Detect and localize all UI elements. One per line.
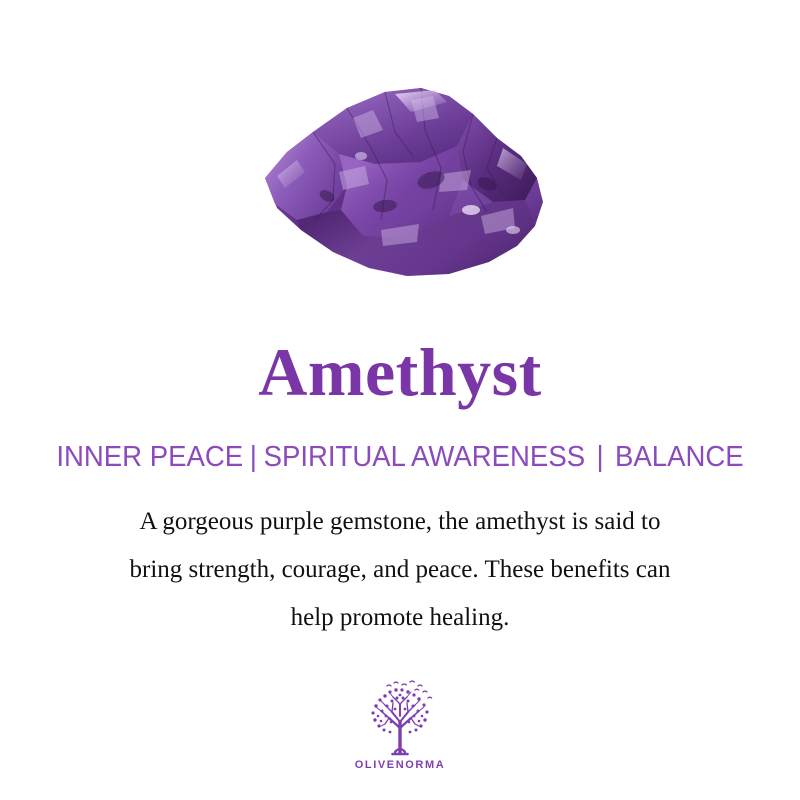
- brand-logo[interactable]: OLIVENORMA: [0, 678, 800, 771]
- keyword-list: INNER PEACE|SPIRITUAL AWARENESS|BALANCE: [20, 440, 780, 474]
- amethyst-product-card: Amethyst INNER PEACE|SPIRITUAL AWARENESS…: [0, 0, 800, 800]
- description-line: A gorgeous purple gemstone, the amethyst…: [50, 498, 750, 546]
- tree-birds: [387, 681, 432, 698]
- keyword-spiritual-awareness: SPIRITUAL AWARENESS: [264, 441, 586, 473]
- gemstone-image-container: [0, 60, 800, 310]
- description-text: A gorgeous purple gemstone, the amethyst…: [50, 498, 750, 642]
- keyword-inner-peace: INNER PEACE: [56, 441, 243, 473]
- keyword-balance: BALANCE: [615, 441, 744, 473]
- keyword-separator-1: |: [243, 440, 263, 474]
- description-line: bring strength, courage, and peace. Thes…: [50, 546, 750, 594]
- brand-name: OLIVENORMA: [0, 759, 800, 771]
- page-title: Amethyst: [0, 334, 800, 410]
- tree-of-life-icon: [362, 678, 438, 758]
- description-line: help promote healing.: [50, 594, 750, 642]
- amethyst-stone-image: [235, 60, 565, 290]
- keyword-separator-2: |: [585, 440, 615, 474]
